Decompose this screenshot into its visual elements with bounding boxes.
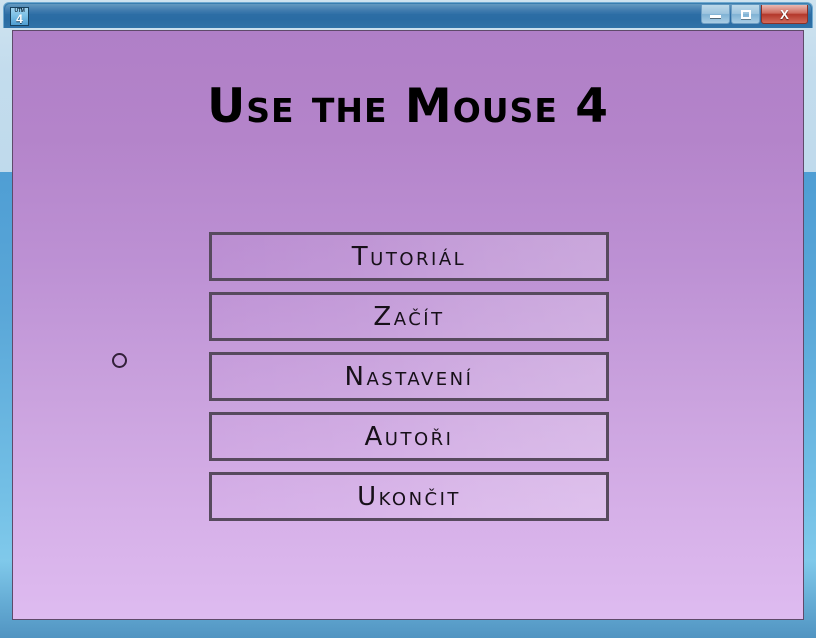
title-bar-gloss: [5, 4, 811, 14]
main-menu: Tutoriál Začít Nastavení Autoři Ukončit: [209, 232, 609, 532]
menu-button-label: Začít: [373, 304, 444, 330]
cursor-target-circle[interactable]: [112, 353, 127, 368]
menu-button-settings[interactable]: Nastavení: [209, 352, 609, 401]
close-button[interactable]: X: [761, 5, 808, 24]
menu-button-label: Ukončit: [357, 484, 461, 510]
minimize-icon: [710, 15, 721, 18]
app-icon: UTM 4: [10, 7, 29, 26]
application-window: UTM 4 X Use the Mouse 4 Tutoriál Začít: [0, 0, 816, 638]
menu-button-start[interactable]: Začít: [209, 292, 609, 341]
maximize-button[interactable]: [731, 5, 760, 24]
window-controls: X: [700, 5, 808, 24]
menu-button-label: Autoři: [365, 424, 454, 450]
maximize-icon: [741, 10, 751, 19]
menu-button-quit[interactable]: Ukončit: [209, 472, 609, 521]
menu-button-label: Tutoriál: [352, 244, 466, 270]
title-bar[interactable]: UTM 4 X: [3, 2, 813, 28]
minimize-button[interactable]: [701, 5, 730, 24]
menu-button-label: Nastavení: [345, 364, 474, 390]
app-icon-number: 4: [16, 13, 23, 25]
menu-button-authors[interactable]: Autoři: [209, 412, 609, 461]
page-title: Use the Mouse 4: [13, 83, 803, 130]
close-icon: X: [780, 8, 789, 21]
menu-button-tutorial[interactable]: Tutoriál: [209, 232, 609, 281]
client-area: Use the Mouse 4 Tutoriál Začít Nastavení…: [12, 30, 804, 620]
